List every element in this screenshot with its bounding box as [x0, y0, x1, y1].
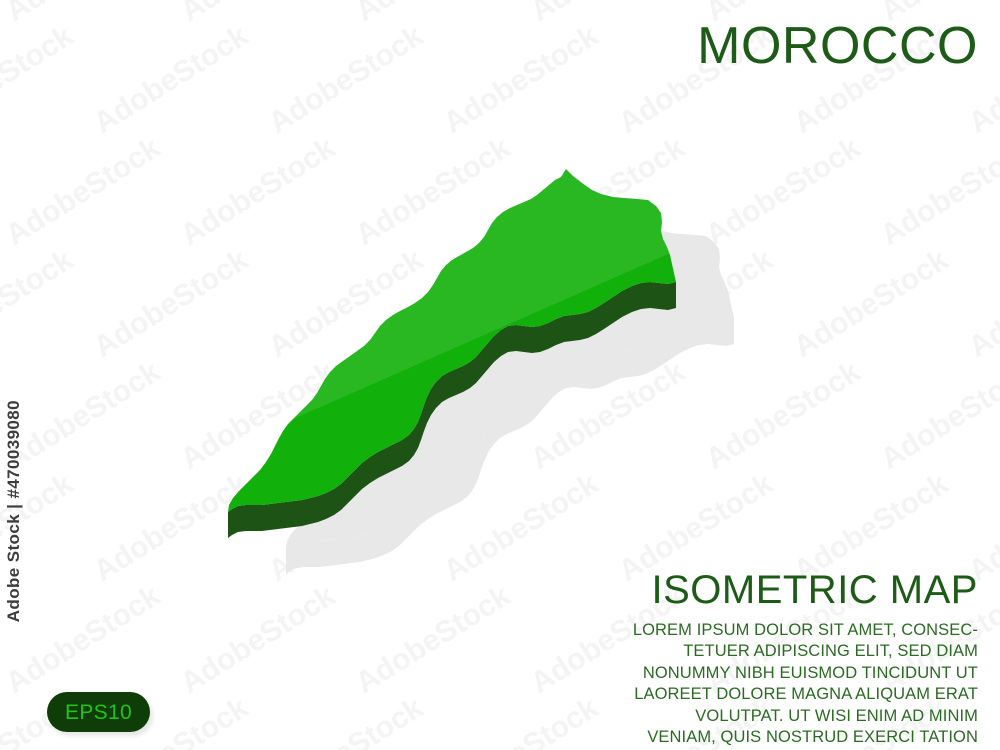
eps10-badge[interactable]: EPS10: [47, 692, 150, 732]
caption-heading: ISOMETRIC MAP: [651, 570, 978, 610]
caption-line: NONUMMY NIBH EUISMOD TINCIDUNT UT: [548, 663, 978, 684]
caption-body: LOREM IPSUM DOLOR SIT AMET, CONSEC-TETUE…: [548, 620, 978, 749]
page-title: MOROCCO: [697, 20, 978, 72]
poster-canvas: AdobeStockAdobeStockAdobeStockAdobeStock…: [0, 0, 1000, 750]
caption-line: TETUER ADIPISCING ELIT, SED DIAM: [548, 641, 978, 662]
caption-line: LAOREET DOLORE MAGNA ALIQUAM ERAT: [548, 684, 978, 705]
eps10-badge-label: EPS10: [65, 702, 132, 723]
caption-line: VOLUTPAT. UT WISI ENIM AD MINIM: [548, 706, 978, 727]
adobe-stock-id-watermark: Adobe Stock | #470039080: [4, 400, 24, 622]
caption-line: VENIAM, QUIS NOSTRUD EXERCI TATION: [548, 727, 978, 748]
caption-line: LOREM IPSUM DOLOR SIT AMET, CONSEC-: [548, 620, 978, 641]
